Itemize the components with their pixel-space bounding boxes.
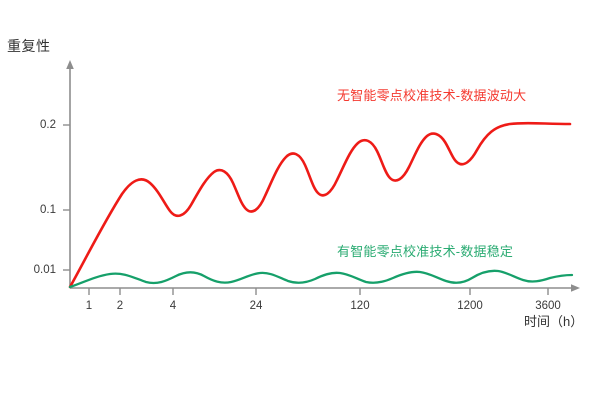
x-tick-label-120: 120 (330, 299, 390, 313)
y-tick-label-0-1: 0.1 (4, 203, 56, 217)
x-tick-label-3600: 3600 (518, 299, 578, 313)
repeatability-chart: 重复性 时间（h） 0.2 0.1 0.01 1 2 4 24 120 1200… (0, 0, 600, 400)
y-tick-label-0-01: 0.01 (4, 263, 56, 277)
x-tick-label-4: 4 (143, 299, 203, 313)
y-axis-arrow-icon (66, 60, 74, 69)
x-axis-arrow-icon (571, 284, 580, 292)
chart-plot-area (0, 0, 600, 400)
y-axis-ticks (63, 125, 70, 270)
x-tick-label-2: 2 (90, 299, 150, 313)
series-annotation-red: 无智能零点校准技术-数据波动大 (337, 87, 526, 105)
y-axis-title: 重复性 (7, 36, 51, 56)
x-axis-title: 时间（h） (524, 313, 583, 331)
x-axis-ticks (89, 288, 548, 295)
series-annotation-green: 有智能零点校准技术-数据稳定 (337, 243, 513, 261)
x-tick-label-24: 24 (226, 299, 286, 313)
x-tick-label-1200: 1200 (440, 299, 500, 313)
y-tick-label-0-2: 0.2 (4, 118, 56, 132)
series-line-green (70, 271, 572, 287)
series-line-red (70, 123, 570, 287)
